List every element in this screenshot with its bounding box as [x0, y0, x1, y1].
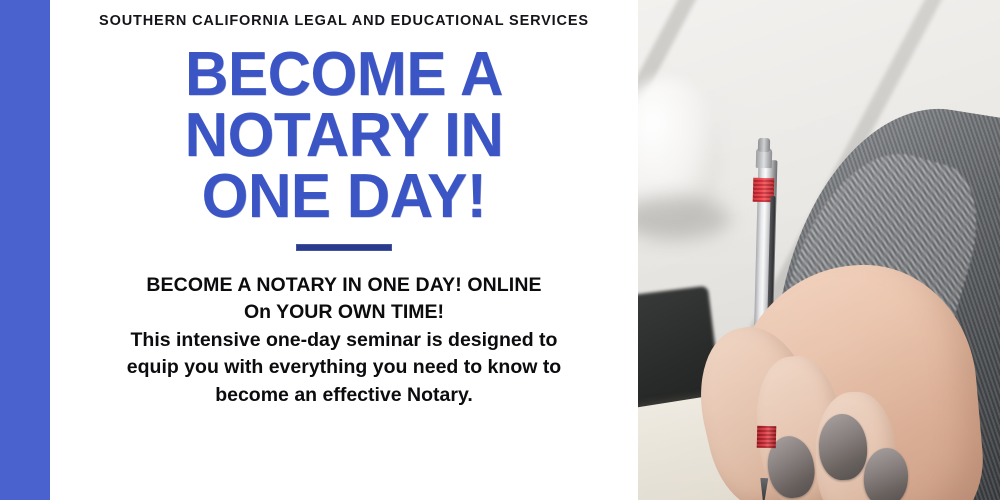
headline-line-2: NOTARY IN — [72, 106, 615, 167]
left-accent-bar — [0, 0, 50, 500]
pen-red-band-lower — [757, 426, 777, 448]
headline-line-1: BECOME A — [72, 45, 615, 106]
text-panel: SOUTHERN CALIFORNIA LEGAL AND EDUCATIONA… — [50, 0, 638, 500]
divider-rule — [296, 244, 392, 251]
description-line-3: This intensive one-day seminar is design… — [61, 327, 627, 354]
event-banner: SOUTHERN CALIFORNIA LEGAL AND EDUCATIONA… — [0, 0, 1000, 500]
description-line-1: BECOME A NOTARY IN ONE DAY! ONLINE — [61, 272, 627, 299]
event-description: BECOME A NOTARY IN ONE DAY! ONLINE On YO… — [61, 272, 627, 409]
description-line-5: become an effective Notary. — [61, 382, 627, 409]
hero-photo — [638, 0, 1000, 500]
headline-line-3: ONE DAY! — [72, 167, 615, 228]
event-headline: BECOME A NOTARY IN ONE DAY! — [72, 45, 615, 227]
description-line-4: equip you with everything you need to kn… — [61, 354, 627, 381]
description-line-2: On YOUR OWN TIME! — [61, 299, 627, 326]
organization-name: SOUTHERN CALIFORNIA LEGAL AND EDUCATIONA… — [94, 10, 594, 32]
pen-click-button — [758, 138, 770, 152]
